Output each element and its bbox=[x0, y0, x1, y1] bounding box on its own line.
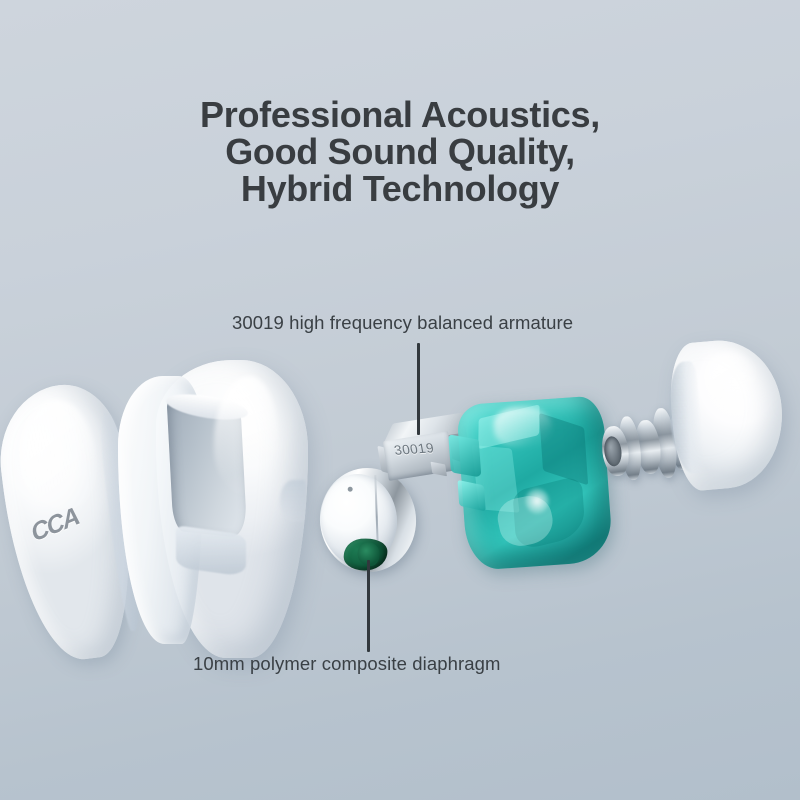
callout-dynamic-driver: 10mm polymer composite diaphragm bbox=[193, 653, 501, 675]
product-marketing-image: Professional Acoustics, Good Sound Quali… bbox=[0, 0, 800, 800]
headline-line-1: Professional Acoustics, bbox=[0, 96, 800, 133]
leader-line-dynamic-driver bbox=[367, 560, 370, 652]
callout-balanced-armature: 30019 high frequency balanced armature bbox=[232, 312, 573, 334]
headline-line-2: Good Sound Quality, bbox=[0, 133, 800, 170]
headline-line-3: Hybrid Technology bbox=[0, 170, 800, 207]
cavity-side-notch-lower bbox=[457, 480, 485, 512]
leader-line-balanced-armature bbox=[417, 343, 420, 435]
cavity-side-notch bbox=[448, 434, 481, 477]
armature-part-marking: 30019 bbox=[393, 440, 435, 458]
armature-contact-tab-right bbox=[431, 462, 448, 477]
page-title: Professional Acoustics, Good Sound Quali… bbox=[0, 96, 800, 207]
shell-notch bbox=[280, 480, 306, 522]
earphone-shell-body bbox=[118, 360, 308, 660]
silicone-eartip bbox=[666, 335, 788, 492]
